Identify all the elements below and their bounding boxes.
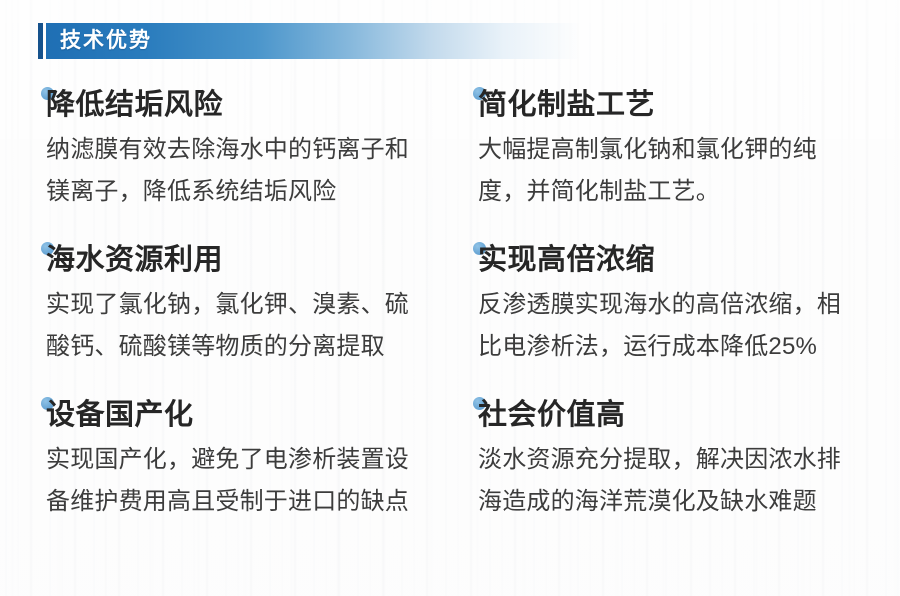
feature-column-right: 实现高倍浓缩 反渗透膜实现海水的高倍浓缩，相比电渗析法，运行成本降低25% <box>450 241 900 396</box>
feature-column-left: 降低结垢风险 纳滤膜有效去除海水中的钙离子和镁离子，降低系统结垢风险 <box>0 86 450 241</box>
feature-title: 海水资源利用 <box>46 244 223 276</box>
header-gradient-band: 技术优势 <box>46 23 598 59</box>
feature-body: 实现了氯化钠，氯化钾、溴素、硫酸钙、硫酸镁等物质的分离提取 <box>46 284 426 368</box>
feature-body: 纳滤膜有效去除海水中的钙离子和镁离子，降低系统结垢风险 <box>46 129 426 213</box>
feature-row: 降低结垢风险 纳滤膜有效去除海水中的钙离子和镁离子，降低系统结垢风险 简化制盐工… <box>0 86 900 241</box>
feature-row: 海水资源利用 实现了氯化钠，氯化钾、溴素、硫酸钙、硫酸镁等物质的分离提取 实现高… <box>0 241 900 396</box>
feature-title: 简化制盐工艺 <box>478 89 655 121</box>
feature-title-row: 海水资源利用 <box>46 241 440 279</box>
page-title: 技术优势 <box>46 23 152 59</box>
feature-body: 反渗透膜实现海水的高倍浓缩，相比电渗析法，运行成本降低25% <box>478 284 858 368</box>
feature-column-left: 海水资源利用 实现了氯化钠，氯化钾、溴素、硫酸钙、硫酸镁等物质的分离提取 <box>0 241 450 396</box>
feature-body: 淡水资源充分提取，解决因浓水排海造成的海洋荒漠化及缺水难题 <box>478 439 858 523</box>
feature-title-row: 社会价值高 <box>478 396 880 434</box>
feature-item-海水资源利用: 海水资源利用 实现了氯化钠，氯化钾、溴素、硫酸钙、硫酸镁等物质的分离提取 <box>46 241 440 368</box>
feature-body: 大幅提高制氯化钠和氯化钾的纯度，并简化制盐工艺。 <box>478 129 858 213</box>
feature-column-right: 简化制盐工艺 大幅提高制氯化钠和氯化钾的纯度，并简化制盐工艺。 <box>450 86 900 241</box>
feature-column-right: 社会价值高 淡水资源充分提取，解决因浓水排海造成的海洋荒漠化及缺水难题 <box>450 396 900 556</box>
feature-row: 设备国产化 实现国产化，避免了电渗析装置设备维护费用高且受制于进口的缺点 社会价… <box>0 396 900 556</box>
section-header-banner: 技术优势 <box>38 23 598 59</box>
feature-title: 降低结垢风险 <box>46 89 223 121</box>
feature-item-设备国产化: 设备国产化 实现国产化，避免了电渗析装置设备维护费用高且受制于进口的缺点 <box>46 396 440 523</box>
feature-item-降低结垢风险: 降低结垢风险 纳滤膜有效去除海水中的钙离子和镁离子，降低系统结垢风险 <box>46 86 440 213</box>
feature-title: 社会价值高 <box>478 399 626 431</box>
feature-item-实现高倍浓缩: 实现高倍浓缩 反渗透膜实现海水的高倍浓缩，相比电渗析法，运行成本降低25% <box>478 241 880 368</box>
feature-item-简化制盐工艺: 简化制盐工艺 大幅提高制氯化钠和氯化钾的纯度，并简化制盐工艺。 <box>478 86 880 213</box>
feature-title-row: 降低结垢风险 <box>46 86 440 124</box>
slide-page: 技术优势 降低结垢风险 纳滤膜有效去除海水中的钙离子和镁离子，降低系统结垢风险 <box>0 0 900 596</box>
feature-title: 实现高倍浓缩 <box>478 244 655 276</box>
feature-item-社会价值高: 社会价值高 淡水资源充分提取，解决因浓水排海造成的海洋荒漠化及缺水难题 <box>478 396 880 523</box>
feature-body: 实现国产化，避免了电渗析装置设备维护费用高且受制于进口的缺点 <box>46 439 426 523</box>
feature-title: 设备国产化 <box>46 399 194 431</box>
feature-title-row: 简化制盐工艺 <box>478 86 880 124</box>
feature-title-row: 实现高倍浓缩 <box>478 241 880 279</box>
feature-column-left: 设备国产化 实现国产化，避免了电渗析装置设备维护费用高且受制于进口的缺点 <box>0 396 450 556</box>
feature-grid: 降低结垢风险 纳滤膜有效去除海水中的钙离子和镁离子，降低系统结垢风险 简化制盐工… <box>0 86 900 556</box>
feature-title-row: 设备国产化 <box>46 396 440 434</box>
